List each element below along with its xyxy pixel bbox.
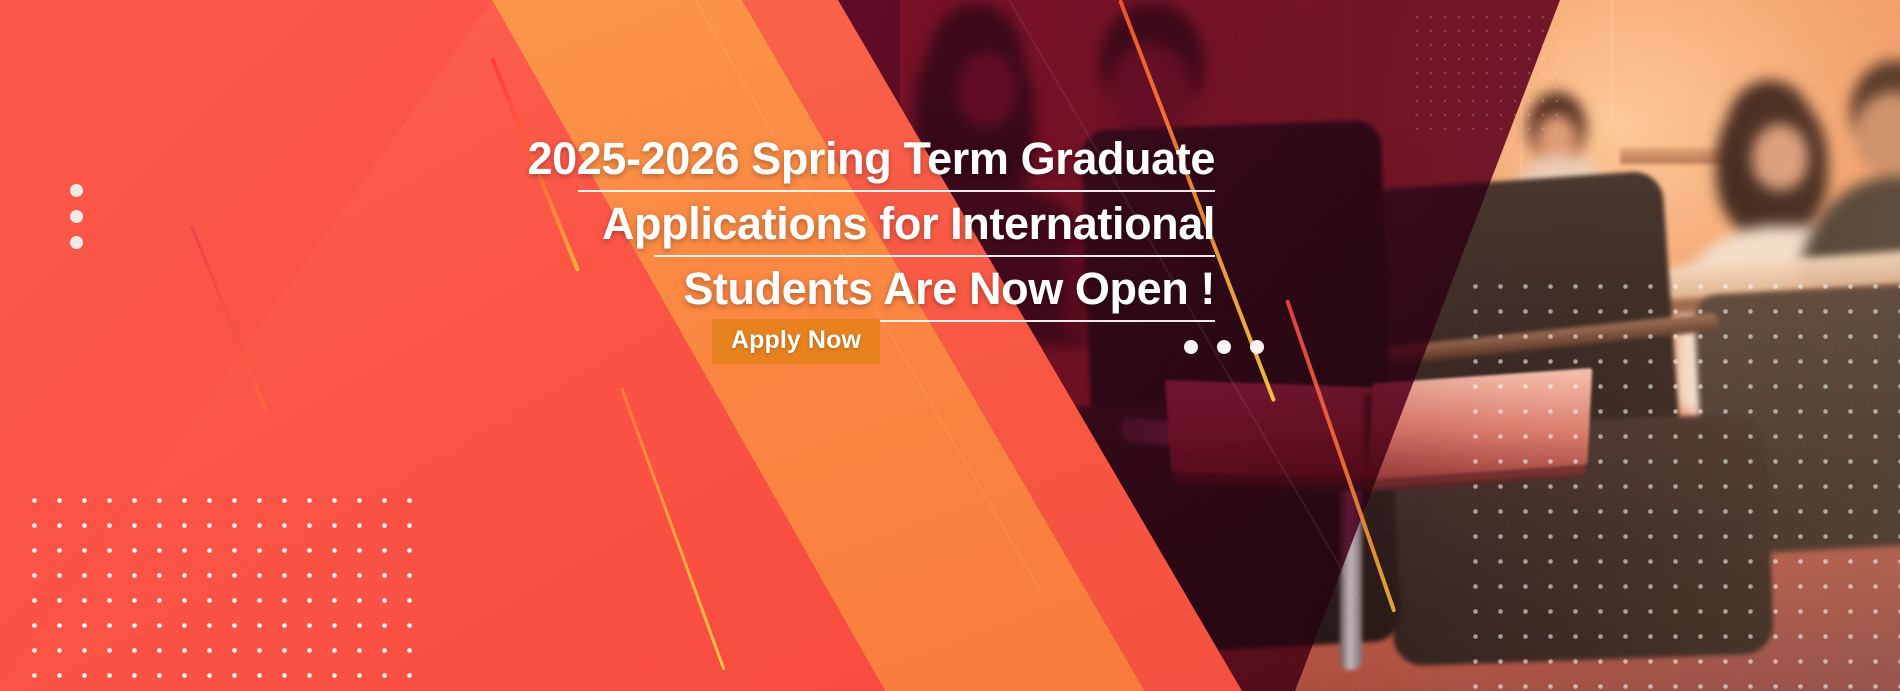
- apply-now-button[interactable]: Apply Now: [712, 319, 880, 364]
- cta-container: Apply Now: [712, 319, 880, 364]
- banner-content: 2025-2026 Spring Term Graduate Applicati…: [0, 0, 1900, 691]
- headline: 2025-2026 Spring Term Graduate Applicati…: [395, 133, 1215, 328]
- headline-line-1: 2025-2026 Spring Term Graduate: [395, 133, 1215, 192]
- headline-line-3: Students Are Now Open !: [395, 263, 1215, 322]
- promo-banner: 2025-2026 Spring Term Graduate Applicati…: [0, 0, 1900, 691]
- headline-line-2: Applications for International: [395, 198, 1215, 257]
